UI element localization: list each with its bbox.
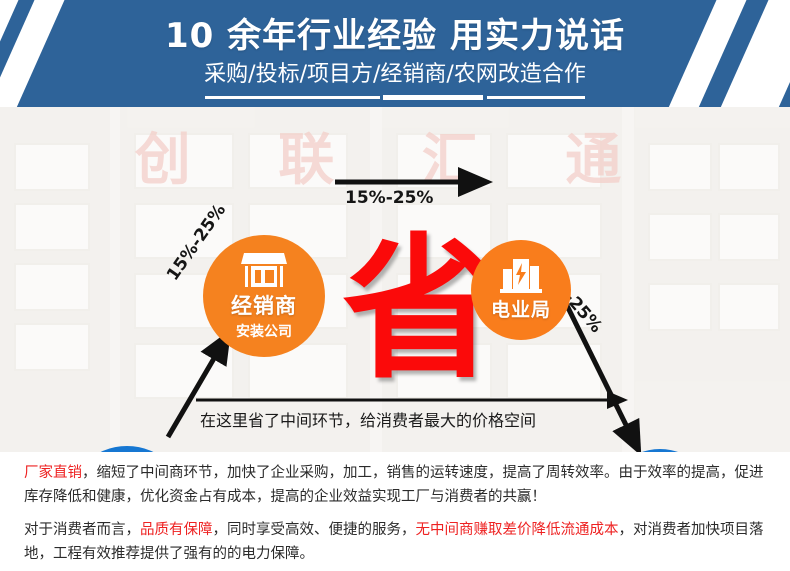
divider-segment-center bbox=[383, 95, 483, 100]
node-bureau-label: 电业局 bbox=[491, 295, 551, 322]
banner-subheadline: 采购/投标/项目方/经销商/农网改造合作 bbox=[0, 56, 790, 88]
banner-divider bbox=[0, 94, 790, 100]
divider-segment-left bbox=[205, 96, 380, 99]
banner-headline: 10 余年行业经验 用实力说话 bbox=[0, 8, 790, 57]
node-dealer-label: 经销商 bbox=[231, 290, 297, 320]
paragraph2-middle: ，同时享受高效、便捷的服务， bbox=[213, 522, 416, 538]
paragraph2-lead: 对于消费者而言， bbox=[24, 522, 140, 538]
paragraph1-body: ，缩短了中间商环节，加快了企业采购，加工，销售的运转速度，提高了周转效率。由于效… bbox=[24, 465, 764, 505]
arrow-label-company-to-consumer: 在这里省了中间环节，给消费者最大的价格空间 bbox=[200, 407, 536, 431]
highlight-no-middleman: 无中间商赚取差价降低流通成本 bbox=[416, 522, 619, 538]
highlight-quality-guarantee: 品质有保障 bbox=[140, 522, 213, 538]
node-dealer[interactable]: 经销商 安装公司 bbox=[203, 235, 325, 357]
paragraph-consumer-benefit: 对于消费者而言，品质有保障，同时享受高效、便捷的服务，无中间商赚取差价降低流通成… bbox=[24, 518, 776, 566]
node-dealer-sublabel: 安装公司 bbox=[236, 321, 292, 341]
shop-icon bbox=[240, 251, 288, 289]
header-banner: 10 余年行业经验 用实力说话 采购/投标/项目方/经销商/农网改造合作 bbox=[0, 0, 790, 107]
flow-diagram: 创 联 汇 通 15%-25% 15%-25% 15%-25% 在这里省了中间环… bbox=[0, 107, 790, 452]
paragraph-manufacturer-direct: 厂家直销，缩短了中间商环节，加快了企业采购，加工，销售的运转速度，提高了周转效率… bbox=[24, 461, 776, 509]
infographic-page: 10 余年行业经验 用实力说话 采购/投标/项目方/经销商/农网改造合作 bbox=[0, 0, 790, 571]
arrow-label-dealer-to-bureau: 15%-25% bbox=[345, 188, 433, 208]
node-bureau[interactable]: 电业局 bbox=[471, 240, 571, 340]
brand-watermark: 创 联 汇 通 bbox=[0, 115, 790, 196]
footer-text-block: 厂家直销，缩短了中间商环节，加快了企业采购，加工，销售的运转速度，提高了周转效率… bbox=[0, 452, 790, 571]
highlight-factory-direct: 厂家直销 bbox=[24, 465, 82, 481]
building-bolt-icon bbox=[499, 258, 543, 294]
divider-segment-right bbox=[487, 96, 585, 99]
